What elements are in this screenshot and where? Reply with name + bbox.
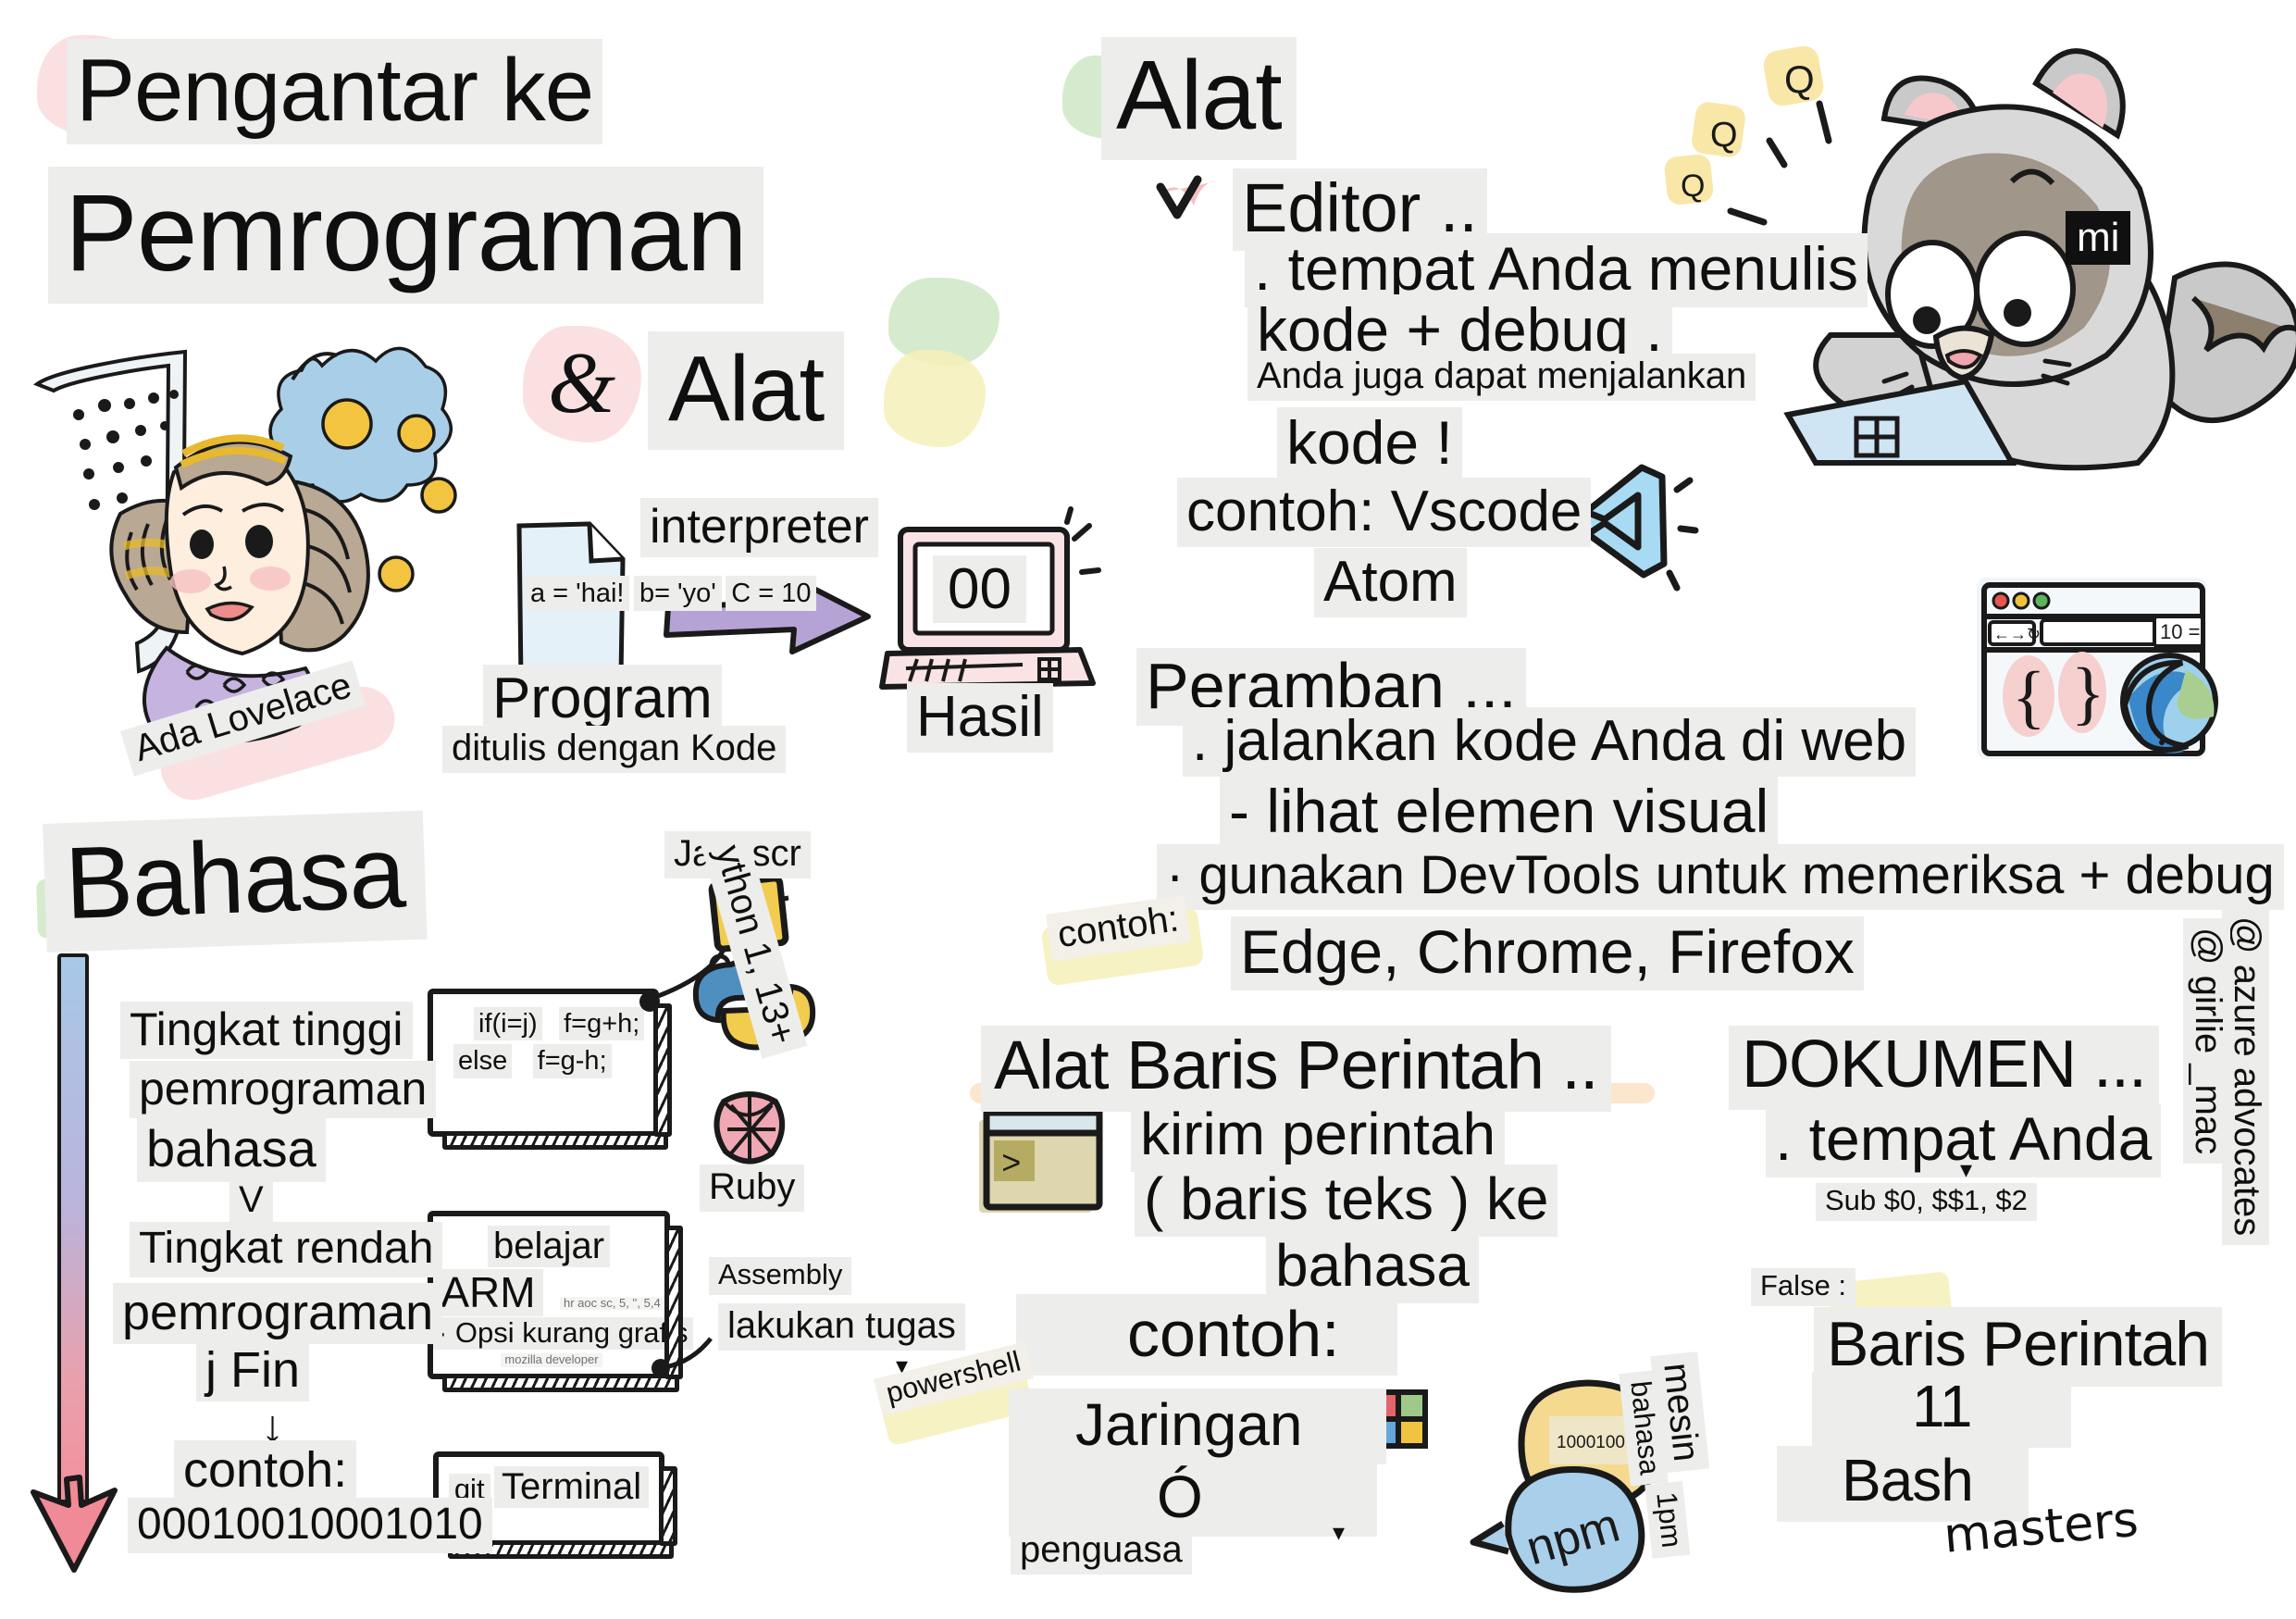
svg-text:Q: Q (1681, 168, 1705, 204)
cmd-line-number: 11 (1812, 1372, 2071, 1448)
cli-line-3: bahasa (1266, 1231, 1479, 1303)
svg-text:{: { (2012, 658, 2045, 736)
scale-example-label: contoh: (174, 1440, 356, 1501)
svg-text:Q: Q (1784, 57, 1815, 101)
ampersand: & (548, 333, 615, 433)
scale-arrow-head-icon (28, 1481, 120, 1583)
title-line-1: Pengantar ke (67, 39, 602, 144)
pm-label: 1pm (1645, 1481, 1691, 1559)
program-code-line-3: C = 10 (726, 576, 816, 611)
editor-example: contoh: Vscode (1177, 478, 1591, 547)
result-screen-value: 00 (933, 555, 1026, 623)
languages-heading: Bahasa (43, 811, 428, 953)
vscode-icon (1573, 458, 1694, 588)
browser-line-1: . jalankan kode Anda di web (1183, 707, 1916, 777)
scale-low-3: j Fin (196, 1340, 309, 1401)
scale-high-2: pemrograman (130, 1061, 436, 1118)
browser-line-2: - lihat elemen visual (1220, 776, 1778, 850)
editor-note: Anda juga dapat menjalankan (1247, 354, 1756, 401)
code-card-line-3: else (453, 1044, 512, 1077)
scale-high-1: Tingkat tinggi (120, 1002, 413, 1059)
title-line-3: Alat (648, 331, 844, 450)
scale-gradient-bar (57, 953, 89, 1503)
network-label-2: Ó (1009, 1461, 1377, 1537)
terminal-icon: > (974, 1107, 1112, 1223)
svg-text:←→↻: ←→↻ (1993, 625, 2041, 643)
interpreter-label: interpreter (640, 498, 878, 557)
cli-line-1: kirim perintah (1131, 1100, 1505, 1172)
scale-example-value: 00010010001010 (128, 1498, 492, 1553)
docs-heading: DOKUMEN ... (1729, 1026, 2159, 1110)
check-icon (1157, 174, 1222, 230)
network-sublabel: penguasa (1011, 1527, 1192, 1575)
result-label: Hasil (907, 683, 1053, 753)
git-card-line-2: Terminal (494, 1466, 649, 1508)
tools-heading: Alat (1101, 37, 1297, 160)
browser-window-mockup: ←→↻ 10 = { } (1980, 581, 2258, 794)
code-card-line-1: if(i=j) (474, 1007, 542, 1040)
ruby-label: Ruby (700, 1164, 804, 1212)
cli-example-label: contoh: (1016, 1294, 1397, 1376)
network-label: Jaringan (1009, 1389, 1386, 1464)
assembly-label: Assembly (709, 1257, 851, 1295)
false-label: False : (1751, 1268, 1855, 1306)
docs-caret-icon: ▾ (1960, 1155, 1972, 1184)
arm-card: belajar ARM hr aoc sc, 5, '', 5,4 · Opsi… (428, 1211, 670, 1379)
ruby-icon (705, 1081, 798, 1174)
program-code-line-2: b= 'yo' (634, 576, 722, 611)
browser-line-3: · gunakan DevTools untuk memeriksa + deb… (1157, 844, 2284, 910)
docs-sub: Sub $0, $$1, $2 (1816, 1183, 2037, 1221)
svg-text:Q: Q (1710, 116, 1738, 155)
infographic-canvas: Pengantar ke Pemrograman & Alat (0, 0, 2296, 1619)
scale-low-2: pemrograman (113, 1283, 442, 1344)
program-label: Program (483, 665, 722, 734)
cli-line-2: ( baris teks ) ke (1135, 1164, 1558, 1237)
decorative-blob-yellow (884, 350, 986, 447)
arm-card-line-2: ARM (433, 1269, 542, 1317)
svg-text:}: } (2071, 654, 2104, 732)
arm-card-tiny-1: hr aoc sc, 5, '', 5,4 (560, 1297, 664, 1311)
browser-examples: Edge, Chrome, Firefox (1231, 916, 1864, 990)
credit-user-handle: @ girlie _mac (2183, 918, 2230, 1164)
scale-high-3: bahasa (137, 1118, 326, 1182)
program-code-line-1: a = 'hai! (525, 576, 629, 611)
browser-url-text: 10 = (2160, 620, 2200, 643)
arm-card-tiny-2: mozilla developer (501, 1353, 602, 1367)
brand-tag: mi (2066, 211, 2130, 265)
title-line-2: Pemrograman (48, 167, 763, 304)
arm-card-line-1: belajar (488, 1226, 610, 1267)
scale-mid: V (230, 1177, 273, 1225)
cli-heading: Alat Baris Perintah .. (981, 1026, 1611, 1112)
program-sublabel: ditulis dengan Kode (442, 726, 786, 773)
doc-caret-icon: ▾ (1333, 1518, 1345, 1547)
terminal-prompt-glyph: > (1001, 1146, 1022, 1184)
editor-example-2: Atom (1314, 548, 1467, 617)
editor-note-2: kode ! (1277, 407, 1462, 481)
scale-low-1: Tingkat rendah (130, 1222, 442, 1277)
assembly-desc: lakukan tugas (718, 1303, 965, 1351)
code-card-line-4: f=g-h; (533, 1044, 612, 1077)
